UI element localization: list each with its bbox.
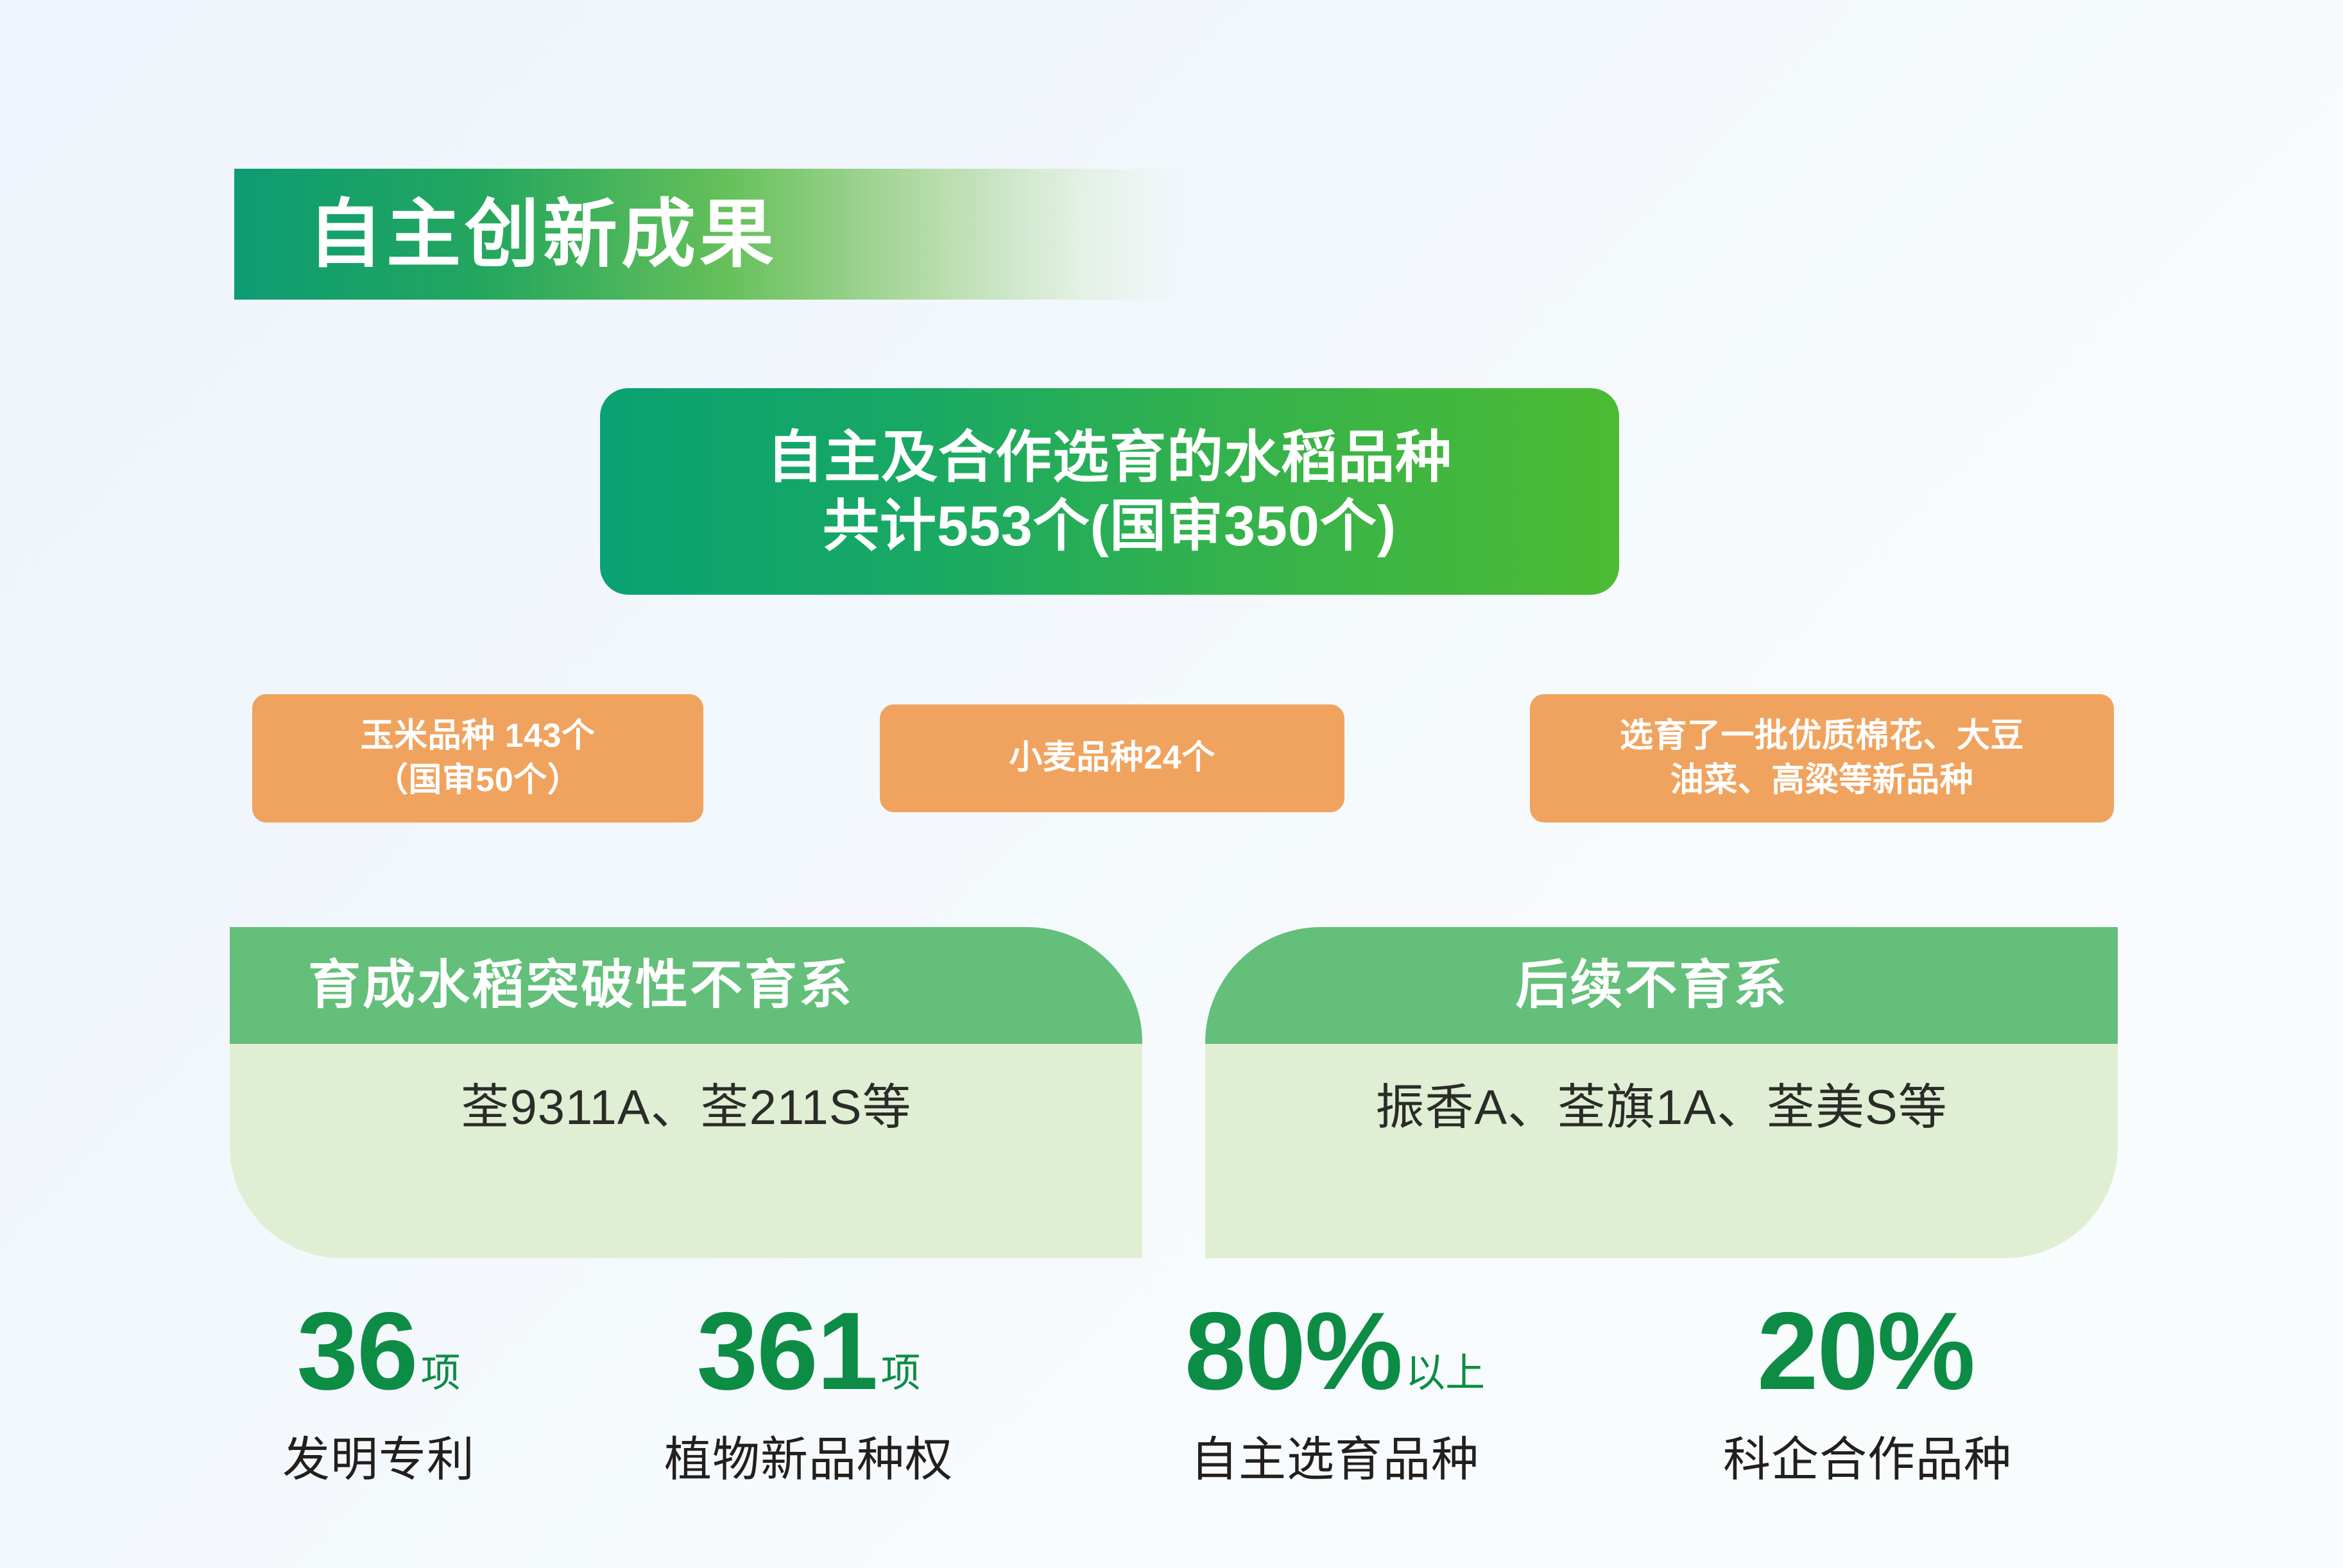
crop-card-row: 玉米品种 143个 （国审50个） 小麦品种24个 选育了一批优质棉花、大豆 油… [0,694,2343,835]
page-title: 自主创新成果 [308,197,778,271]
stat-institute-enterprise-varieties-label: 科企合作品种 [1723,1436,2012,1483]
stat-invention-patents-label: 发明专利 [282,1436,475,1483]
rice-summary-line-2: 共计553个(国审350个) [823,491,1396,560]
stat-plant-variety-rights-value: 361 项 [697,1296,921,1406]
stat-institute-enterprise-varieties-value: 20% [1757,1296,1978,1406]
panel-subsequent-header-text: 后续不育系 [1515,959,1788,1012]
title-banner: 自主创新成果 [234,169,1183,300]
panel-subsequent-body-text: 振香A、荃旗1A、荃美S等 [1375,1084,1947,1132]
crop-card-other-line-1: 选育了一批优质棉花、大豆 [1620,714,2024,758]
stat-institute-enterprise-varieties-number: 20% [1757,1296,1974,1406]
panel-breakthrough-body: 荃9311A、荃211S等 [230,1044,1142,1258]
crop-card-corn-line-1: 玉米品种 143个 [361,714,596,758]
panel-breakthrough-header: 育成水稻突破性不育系 [230,927,1142,1044]
stat-self-bred-varieties-value: 80% 以上 [1185,1296,1485,1406]
stat-invention-patents-suffix: 项 [421,1354,461,1393]
panel-breakthrough-header-text: 育成水稻突破性不育系 [308,959,854,1012]
stat-self-bred-varieties: 80% 以上 自主选育品种 [1091,1296,1579,1483]
stat-plant-variety-rights: 361 项 植物新品种权 [584,1296,1033,1483]
stat-plant-variety-rights-number: 361 [697,1296,877,1406]
stat-self-bred-varieties-number: 80% [1185,1296,1402,1406]
crop-card-corn-line-2: （国审50个） [375,758,581,803]
rice-variety-summary-card: 自主及合作选育的水稻品种 共计553个(国审350个) [600,388,1619,595]
crop-card-wheat-line-1: 小麦品种24个 [1009,736,1215,780]
stat-institute-enterprise-varieties: 20% 科企合作品种 [1643,1296,2092,1483]
panel-breakthrough-body-text: 荃9311A、荃211S等 [461,1084,912,1132]
stat-invention-patents-number: 36 [296,1296,416,1406]
stat-invention-patents-value: 36 项 [296,1296,460,1406]
panel-subsequent-header: 后续不育系 [1205,927,2118,1044]
panel-breakthrough-sterile-lines: 育成水稻突破性不育系 荃9311A、荃211S等 [230,927,1142,1258]
rice-summary-line-1: 自主及合作选育的水稻品种 [767,423,1452,491]
stat-self-bred-varieties-label: 自主选育品种 [1190,1436,1479,1483]
stat-self-bred-varieties-suffix: 以上 [1405,1354,1485,1393]
crop-card-other: 选育了一批优质棉花、大豆 油菜、高粱等新品种 [1530,694,2114,822]
stat-plant-variety-rights-label: 植物新品种权 [664,1436,953,1483]
panel-subsequent-body: 振香A、荃旗1A、荃美S等 [1205,1044,2118,1258]
crop-card-other-line-2: 油菜、高粱等新品种 [1670,758,1974,803]
crop-card-wheat: 小麦品种24个 [880,704,1344,812]
crop-card-corn: 玉米品种 143个 （国审50个） [252,694,703,822]
statistics-row: 36 项 发明专利 361 项 植物新品种权 80% 以上 自主选育品种 20%… [0,1296,2343,1540]
panel-subsequent-sterile-lines: 后续不育系 振香A、荃旗1A、荃美S等 [1205,927,2118,1258]
stat-invention-patents: 36 项 发明专利 [180,1296,578,1483]
stat-plant-variety-rights-suffix: 项 [880,1354,920,1393]
